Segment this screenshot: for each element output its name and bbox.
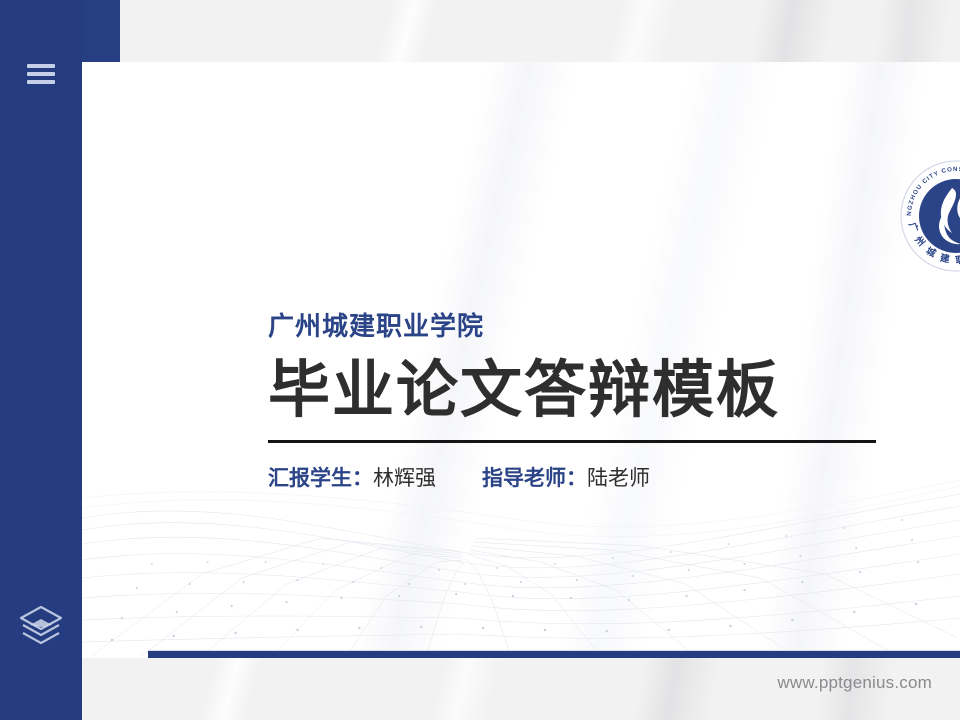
advisor-name: 陆老师: [587, 466, 650, 490]
student-name: 林辉强: [373, 466, 436, 490]
hamburger-menu-icon[interactable]: [27, 62, 55, 86]
viewer-footer: www.pptgenius.com: [0, 658, 960, 720]
advisor-label: 指导老师：: [482, 466, 587, 490]
title-divider: [268, 440, 876, 443]
watermark-text: www.pptgenius.com: [777, 673, 932, 693]
hamburger-bar-1: [27, 64, 55, 68]
hamburger-bar-2: [27, 72, 55, 76]
page-title: 毕业论文答辩模板: [268, 357, 960, 422]
student-label: 汇报学生：: [268, 466, 373, 490]
school-name: 广州城建职业学院: [268, 312, 960, 343]
byline: 汇报学生：林辉强指导老师：陆老师: [268, 465, 960, 492]
title-block: 广州城建职业学院 毕业论文答辩模板 汇报学生：林辉强指导老师：陆老师: [268, 312, 960, 493]
college-seal-logo: GUANGZHOU CITY CONSTRUCTION COLLEGE 广州城建…: [894, 154, 960, 278]
wireframe-dot-wave-mesh: [82, 478, 960, 658]
slide-canvas[interactable]: GUANGZHOU CITY CONSTRUCTION COLLEGE 广州城建…: [82, 62, 960, 658]
stacked-layers-icon[interactable]: [16, 603, 66, 647]
slide-accent-bar: [148, 650, 960, 658]
rail-top-overlap: [82, 0, 120, 62]
hamburger-bar-3: [27, 80, 55, 84]
